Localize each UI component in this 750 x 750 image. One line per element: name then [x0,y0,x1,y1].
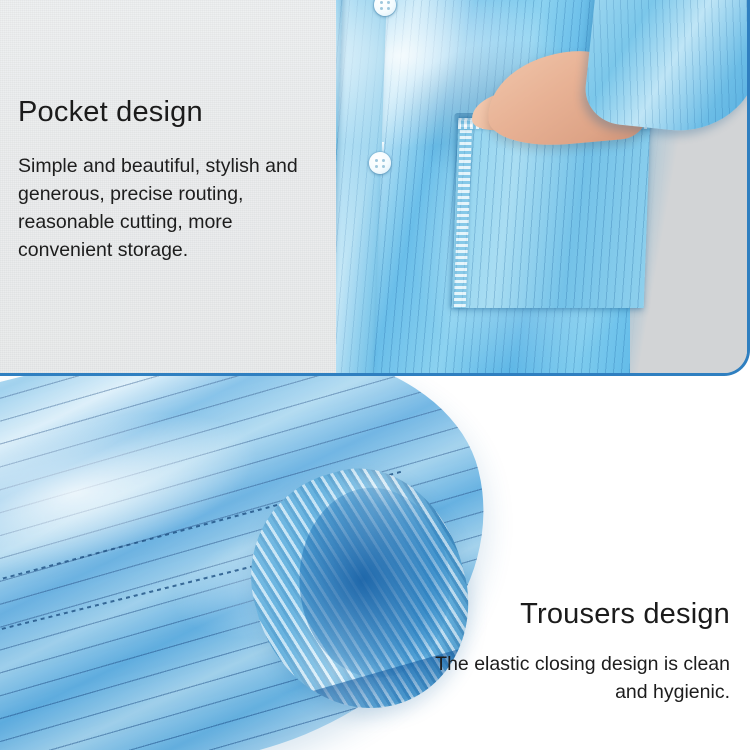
trousers-design-heading: Trousers design [520,598,730,631]
pocket-design-section: Pocket design Simple and beautiful, styl… [0,0,750,376]
patch-pocket [452,118,651,308]
trousers-design-body: The elastic closing design is clean and … [400,650,730,706]
pocket-design-body: Simple and beautiful, stylish and genero… [18,152,328,264]
product-detail-page: Pocket design Simple and beautiful, styl… [0,0,750,750]
pocket-design-heading: Pocket design [18,96,203,129]
shirt-button-lower [369,152,391,174]
pocket-stripe-texture [452,118,651,308]
